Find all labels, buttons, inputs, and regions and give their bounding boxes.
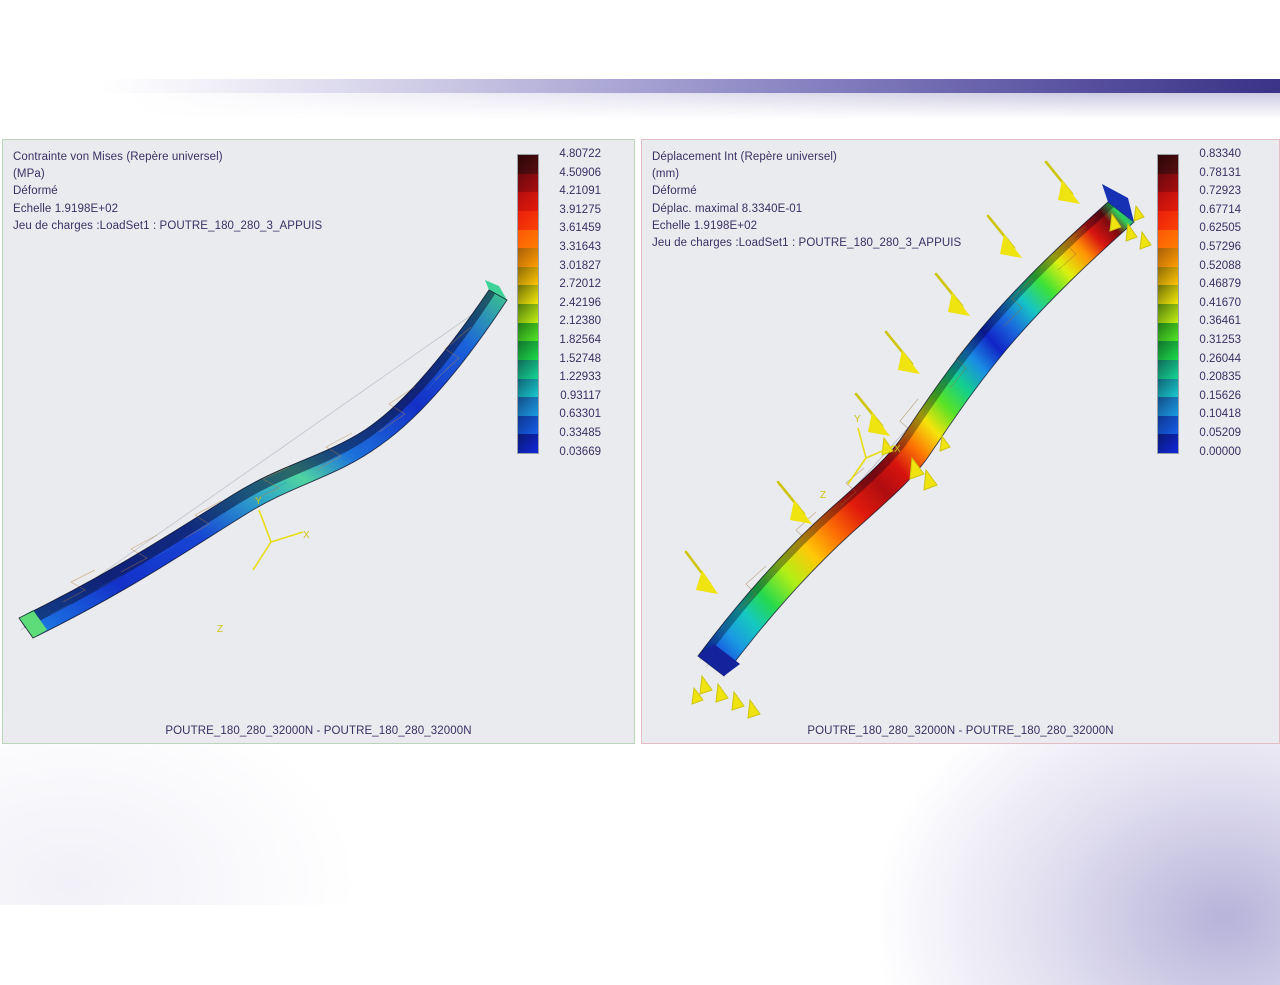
cb-tick: 0.41670 [1185,294,1241,313]
cb-tick: 3.01827 [545,257,601,276]
colorbar-von-mises: 4.80722 4.50906 4.21091 3.91275 3.61459 … [517,154,539,454]
cb-tick: 4.21091 [545,182,601,201]
cb-tick: 4.50906 [545,164,601,183]
cb-tick: 1.22933 [545,368,601,387]
cb-tick: 2.42196 [545,294,601,313]
colorbar-gradient-von-mises [517,154,539,454]
cb-tick: 0.78131 [1185,164,1241,183]
panel-caption-von-mises: POUTRE_180_280_32000N - POUTRE_180_280_3… [3,725,634,737]
header-gradient-fade [0,93,1280,119]
header-gradient-band [0,79,1280,93]
cb-tick: 0.31253 [1185,331,1241,350]
load-arrow [778,482,812,524]
cb-tick: 0.05209 [1185,424,1241,443]
cb-tick: 1.52748 [545,350,601,369]
beam-render-displacement: X Z Y [642,140,1279,743]
cb-tick: 0.57296 [1185,238,1241,257]
colorbar-ticks-von-mises: 4.80722 4.50906 4.21091 3.91275 3.61459 … [545,145,601,461]
cb-tick: 3.91275 [545,201,601,220]
cb-tick: 0.10418 [1185,405,1241,424]
cb-tick: 3.61459 [545,219,601,238]
colorbar-ticks-displacement: 0.83340 0.78131 0.72923 0.67714 0.62505 … [1185,145,1241,461]
colorbar-gradient-displacement [1157,154,1179,454]
load-arrow [988,216,1022,258]
panel-caption-displacement: POUTRE_180_280_32000N - POUTRE_180_280_3… [642,725,1279,737]
load-arrow [856,394,890,436]
axis-triad-icon [253,510,303,570]
load-arrow [936,274,970,316]
cb-tick: 2.12380 [545,312,601,331]
panel-displacement[interactable]: Déplacement Int (Repère universel) (mm) … [641,139,1280,744]
axis-label-z: Z [820,490,826,501]
cb-tick: 4.80722 [545,145,601,164]
cb-tick: 0.83340 [1185,145,1241,164]
cb-tick: 0.36461 [1185,312,1241,331]
viewport-displacement[interactable]: X Z Y [642,140,1279,743]
axis-label-x: X [303,530,310,541]
load-arrow [886,332,920,374]
cb-tick: 0.26044 [1185,350,1241,369]
colorbar-displacement: 0.83340 0.78131 0.72923 0.67714 0.62505 … [1157,154,1179,454]
viewport-von-mises[interactable]: X Z Y [3,140,634,743]
load-arrow [686,552,718,594]
axis-label-y: Y [255,496,262,507]
cb-tick: 2.72012 [545,275,601,294]
cb-tick: 0.00000 [1185,443,1241,462]
beam-render-von-mises: X Z Y [3,140,634,743]
cb-tick: 0.62505 [1185,219,1241,238]
cb-tick: 3.31643 [545,238,601,257]
cb-tick: 0.93117 [545,387,601,406]
cb-tick: 1.82564 [545,331,601,350]
load-arrow-group [686,162,1080,594]
support-symbol [692,676,760,718]
cb-tick: 0.63301 [545,405,601,424]
cb-tick: 0.72923 [1185,182,1241,201]
axis-label-y: Y [854,414,861,425]
cb-tick: 0.20835 [1185,368,1241,387]
panel-von-mises[interactable]: Contrainte von Mises (Repère universel) … [2,139,635,744]
cb-tick: 0.33485 [545,424,601,443]
axis-label-x: X [894,444,901,455]
load-arrow [1046,162,1080,204]
cb-tick: 0.52088 [1185,257,1241,276]
cb-tick: 0.03669 [545,443,601,462]
axis-label-z: Z [217,624,223,635]
cb-tick: 0.67714 [1185,201,1241,220]
cb-tick: 0.46879 [1185,275,1241,294]
cb-tick: 0.15626 [1185,387,1241,406]
